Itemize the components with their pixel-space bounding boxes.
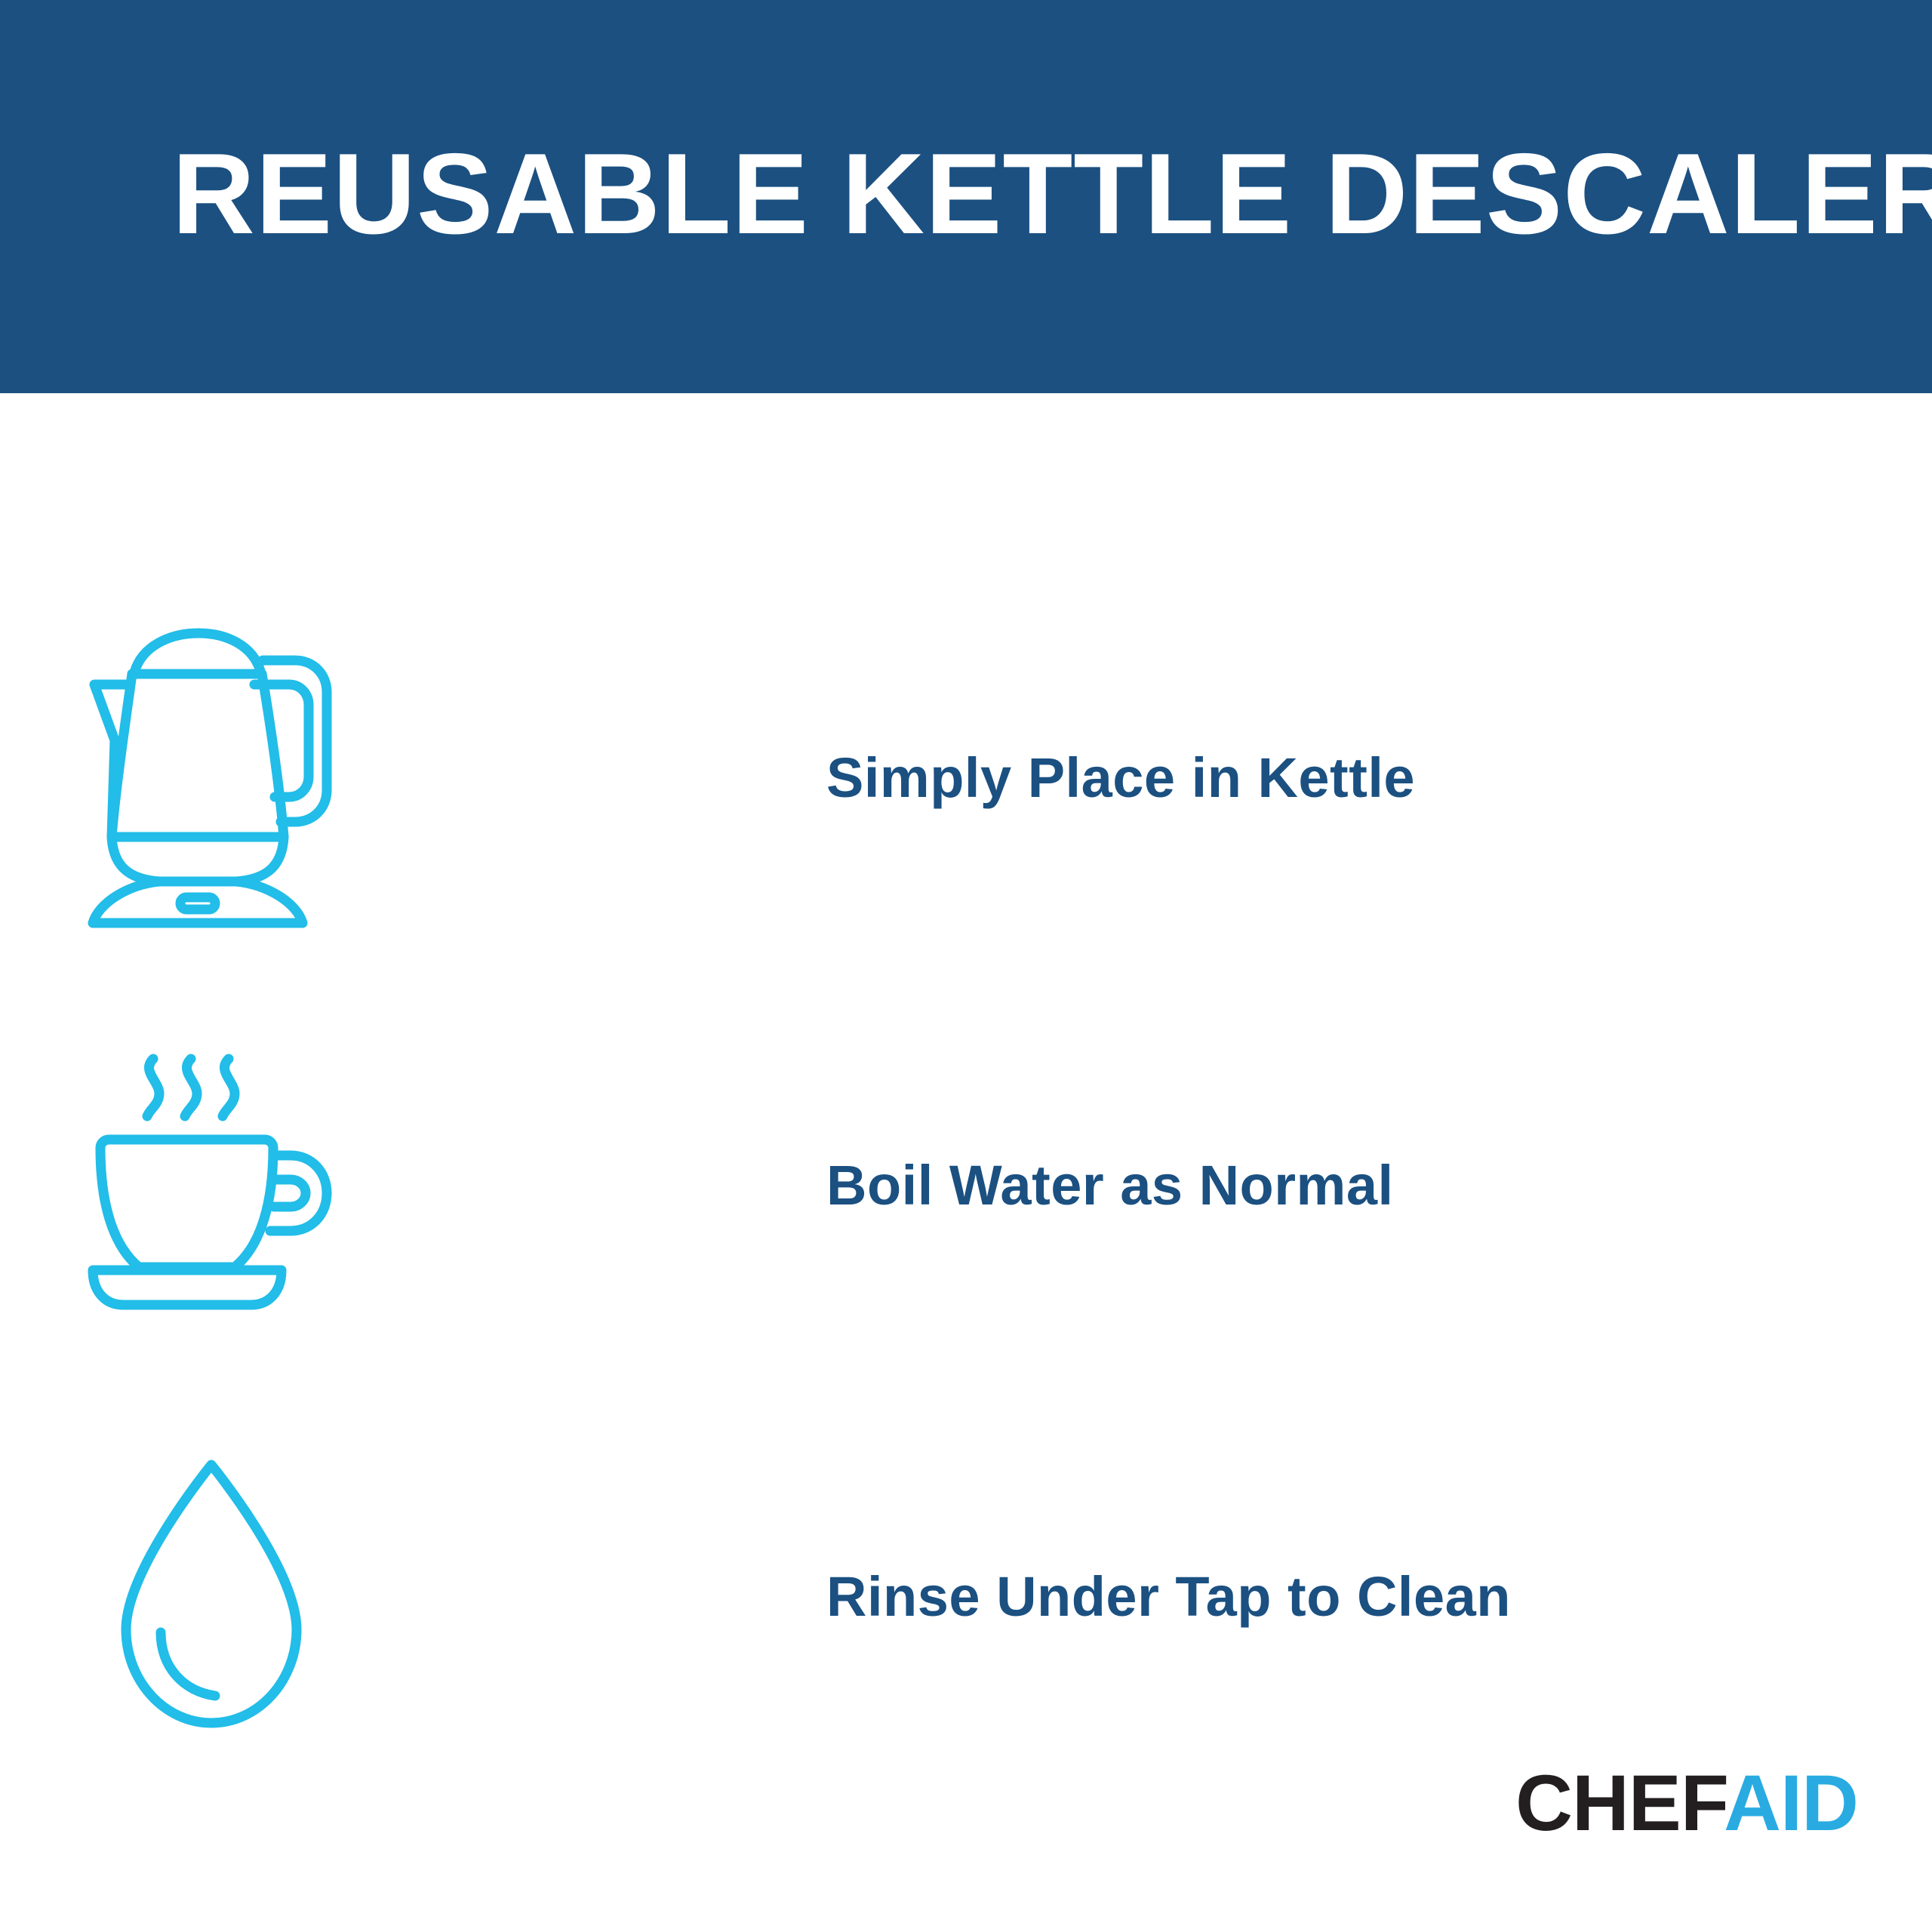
water-drop-icon [0, 1397, 423, 1797]
kettle-icon [0, 574, 423, 982]
page-title: REUSABLE KETTLE DESCALER [172, 137, 1932, 251]
brand-logo: CHEFAID [1515, 1764, 1858, 1843]
brand-logo-aid: AID [1724, 1759, 1858, 1847]
header-banner: REUSABLE KETTLE DESCALER [0, 0, 1932, 393]
steam-lines [147, 1059, 235, 1116]
step-item-2: Boil Water as Normal [0, 989, 1932, 1382]
step-label-2: Boil Water as Normal [423, 1158, 1394, 1214]
step-label-1: Simply Place in Kettle [423, 750, 1415, 806]
hot-cup-icon [0, 989, 423, 1382]
steps-list: Simply Place in Kettle Boil Wa [0, 393, 1932, 1714]
step-item-3: Rinse Under Tap to Clean [0, 1397, 1932, 1797]
step-item-1: Simply Place in Kettle [0, 574, 1932, 982]
brand-logo-chef: CHEF [1515, 1759, 1724, 1847]
step-label-3: Rinse Under Tap to Clean [423, 1569, 1511, 1625]
